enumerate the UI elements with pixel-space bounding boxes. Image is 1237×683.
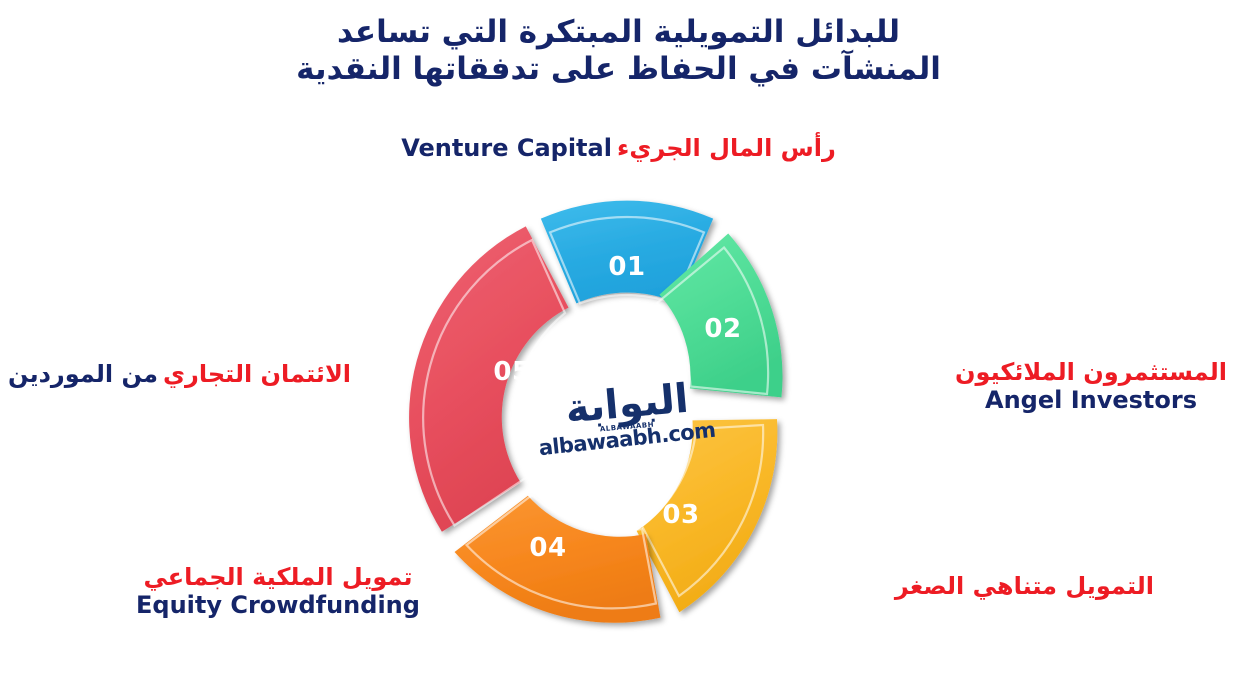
callout-label-04-arabic: تمويل الملكية الجماعي	[136, 563, 420, 591]
wheel-segment-05-number: 05	[493, 357, 530, 387]
callout-label-05-arabic-secondary: من الموردين	[8, 360, 158, 388]
callout-label-01: رأس المال الجريء Venture Capital	[0, 134, 1237, 162]
callout-label-03-arabic: التمويل متناهي الصغر	[895, 572, 1154, 600]
callout-label-02: المستثمرون الملائكيون Angel Investors	[955, 358, 1227, 415]
wheel-segment-05-shape[interactable]	[409, 226, 568, 531]
callout-label-05-arabic: الائتمان التجاري	[163, 360, 351, 388]
page-title-line-1: للبدائل التمويلية المبتكرة التي تساعد	[0, 14, 1237, 51]
callout-label-01-english: Venture Capital	[401, 134, 612, 162]
callout-label-02-arabic: المستثمرون الملائكيون	[955, 358, 1227, 386]
wheel-segment-05[interactable]: 05	[409, 226, 568, 531]
page-title: للبدائل التمويلية المبتكرة التي تساعد ال…	[0, 14, 1237, 88]
callout-label-02-english: Angel Investors	[955, 386, 1227, 414]
callout-label-05: الائتمان التجاري من الموردين	[8, 360, 351, 388]
callout-label-04: تمويل الملكية الجماعي Equity Crowdfundin…	[136, 563, 420, 620]
wheel-segment-04-number: 04	[529, 533, 566, 563]
callout-label-03: التمويل متناهي الصغر	[895, 572, 1154, 600]
wheel-segment-03-number: 03	[662, 500, 699, 530]
callout-label-01-arabic: رأس المال الجريء	[617, 134, 836, 162]
callout-label-04-english: Equity Crowdfunding	[136, 591, 420, 619]
wheel-segment-01-number: 01	[608, 252, 645, 282]
wheel-segment-04[interactable]: 04	[455, 495, 661, 623]
brand-logo: البوابة ALBAWAABH albawaabh.com	[527, 383, 727, 451]
page-title-line-2: المنشآت في الحفاظ على تدفقاتها النقدية	[0, 51, 1237, 88]
wheel-segment-02-number: 02	[704, 314, 741, 344]
